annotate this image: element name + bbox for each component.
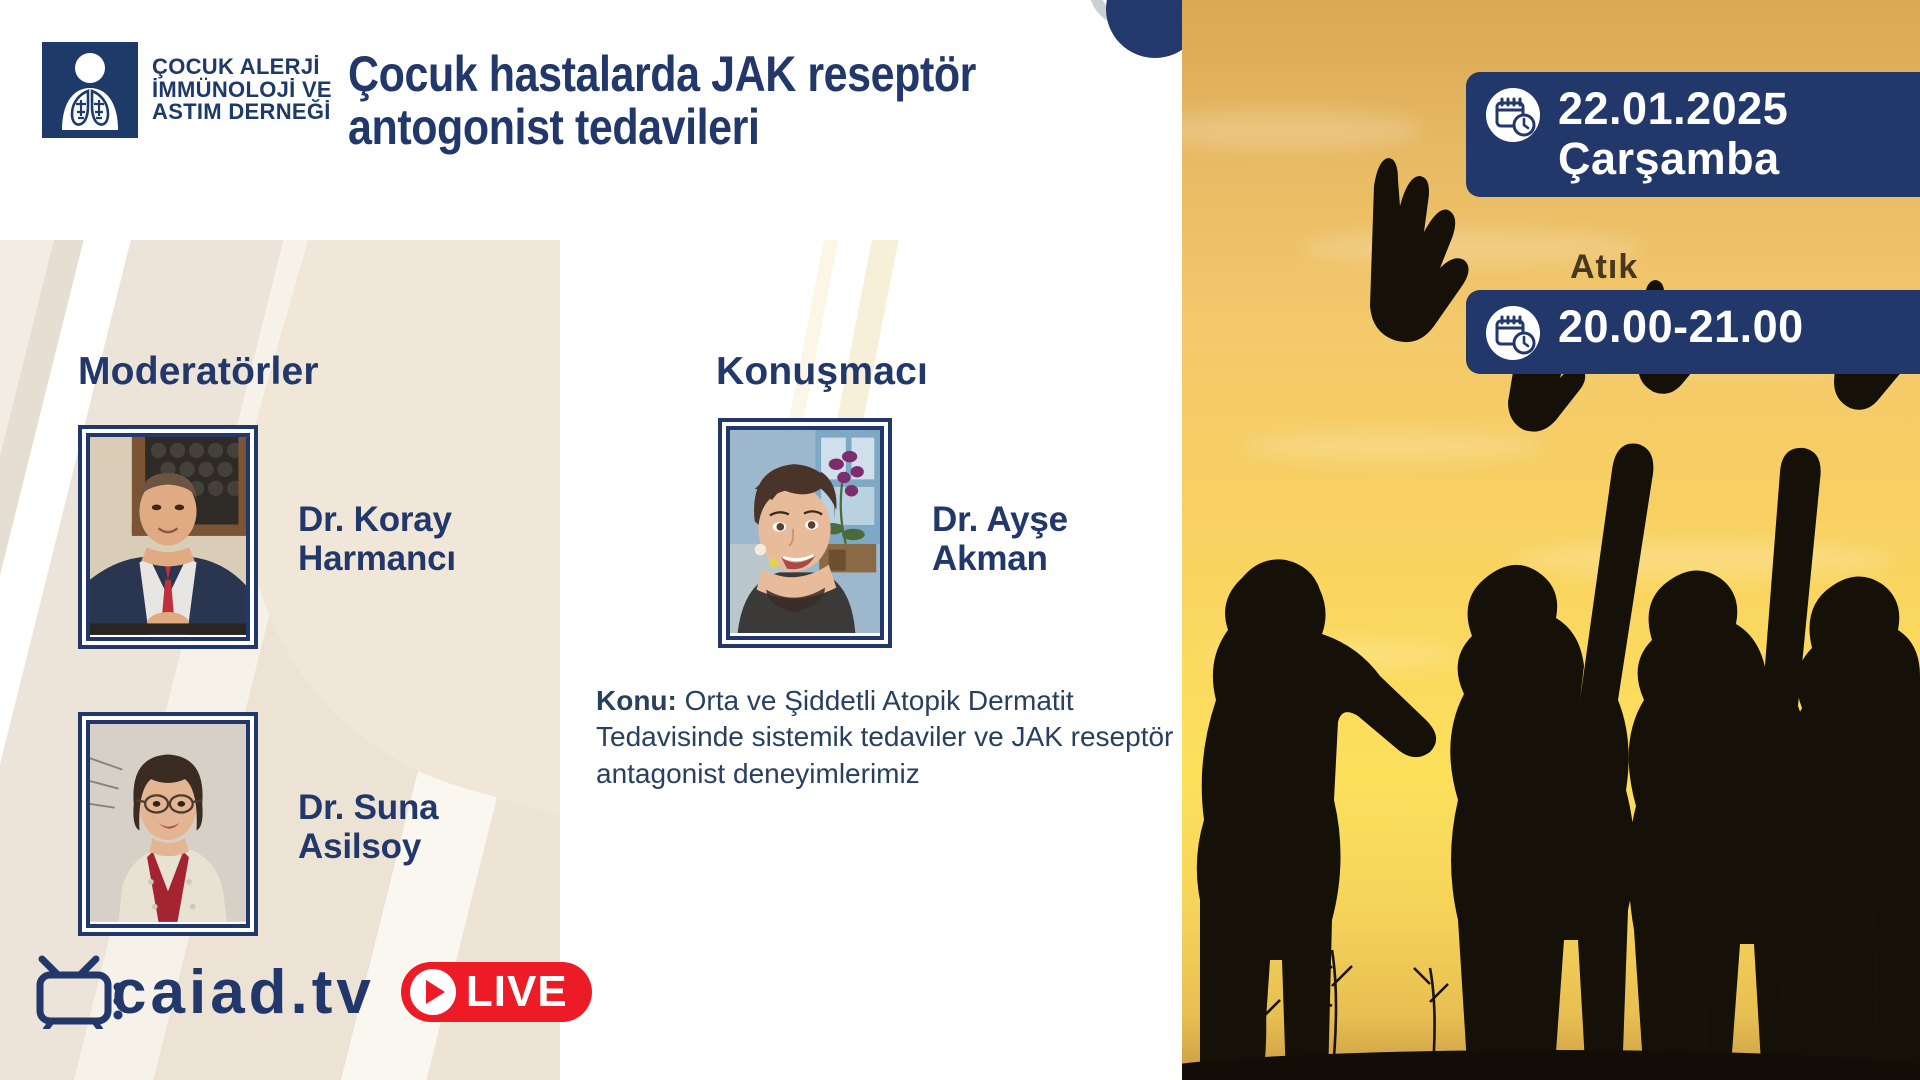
speaker-name-line1: Dr. Ayşe — [932, 500, 1068, 539]
org-name-line-3: ASTIM DERNEĞİ — [152, 101, 332, 124]
portrait-suna-asilsoy — [90, 724, 246, 922]
moderator-name-1: Dr. Koray Harmancı — [298, 500, 456, 578]
date-badge: 22.01.2025 Çarşamba — [1466, 72, 1920, 197]
left-content-panel: ÇOCUK ALERJİ İMMÜNOLOJİ VE ASTIM DERNEĞİ… — [0, 0, 1182, 1080]
live-label: LIVE — [466, 970, 568, 1014]
obscured-text: Atık — [1570, 248, 1638, 287]
live-badge[interactable]: LIVE — [401, 962, 592, 1022]
speaker-name-line2: Akman — [932, 539, 1068, 578]
time-badge: 20.00-21.00 — [1466, 290, 1920, 374]
org-name-line-2: İMMÜNOLOJİ VE — [152, 79, 332, 102]
date-text: 22.01.2025 Çarşamba — [1558, 84, 1788, 183]
org-name-line-1: ÇOCUK ALERJİ — [152, 56, 332, 79]
calendar-clock-icon — [1486, 88, 1540, 142]
topic-label: Konu: — [596, 685, 677, 716]
organization-logo: ÇOCUK ALERJİ İMMÜNOLOJİ VE ASTIM DERNEĞİ — [42, 42, 332, 138]
moderator-name-2-line2: Asilsoy — [298, 827, 438, 866]
television-icon — [36, 955, 128, 1029]
moderator-name-1-line1: Dr. Koray — [298, 500, 456, 539]
date-line-1: 22.01.2025 — [1558, 83, 1788, 134]
moderator-photo-frame-1 — [78, 425, 258, 649]
moderator-name-2: Dr. Suna Asilsoy — [298, 788, 438, 866]
portrait-koray-harmanci — [90, 437, 246, 635]
moderators-heading: Moderatörler — [78, 350, 319, 394]
speaker-heading: Konuşmacı — [716, 350, 928, 394]
play-icon — [410, 969, 456, 1015]
photo-inner-border — [86, 433, 250, 641]
moderator-photo-frame-2 — [78, 712, 258, 936]
caiad-tv-wordmark: caiad.tv — [112, 957, 375, 1028]
time-line-1: 20.00-21.00 — [1558, 301, 1804, 352]
time-text: 20.00-21.00 — [1558, 302, 1804, 352]
speaker-name: Dr. Ayşe Akman — [932, 500, 1068, 578]
poster-title: Çocuk hastalarda JAK reseptör antogonist… — [348, 48, 1053, 154]
date-line-2: Çarşamba — [1558, 134, 1788, 184]
topic-text: Orta ve Şiddetli Atopik Dermatit Tedavis… — [596, 685, 1173, 789]
moderator-name-2-line1: Dr. Suna — [298, 788, 438, 827]
moderator-name-1-line2: Harmancı — [298, 539, 456, 578]
speaker-photo-frame — [718, 418, 892, 648]
person-lungs-icon — [42, 42, 138, 138]
caiad-tv-logo[interactable]: caiad.tv — [36, 955, 375, 1029]
footer-bar: caiad.tv LIVE — [36, 955, 592, 1029]
portrait-ayse-akman — [730, 430, 880, 633]
webinar-poster: ÇOCUK ALERJİ İMMÜNOLOJİ VE ASTIM DERNEĞİ… — [0, 0, 1920, 1080]
photo-inner-border — [726, 426, 884, 640]
organization-name: ÇOCUK ALERJİ İMMÜNOLOJİ VE ASTIM DERNEĞİ — [152, 56, 332, 124]
calendar-clock-icon — [1486, 306, 1540, 360]
topic-block: Konu: Orta ve Şiddetli Atopik Dermatit T… — [596, 683, 1182, 792]
photo-inner-border — [86, 720, 250, 928]
